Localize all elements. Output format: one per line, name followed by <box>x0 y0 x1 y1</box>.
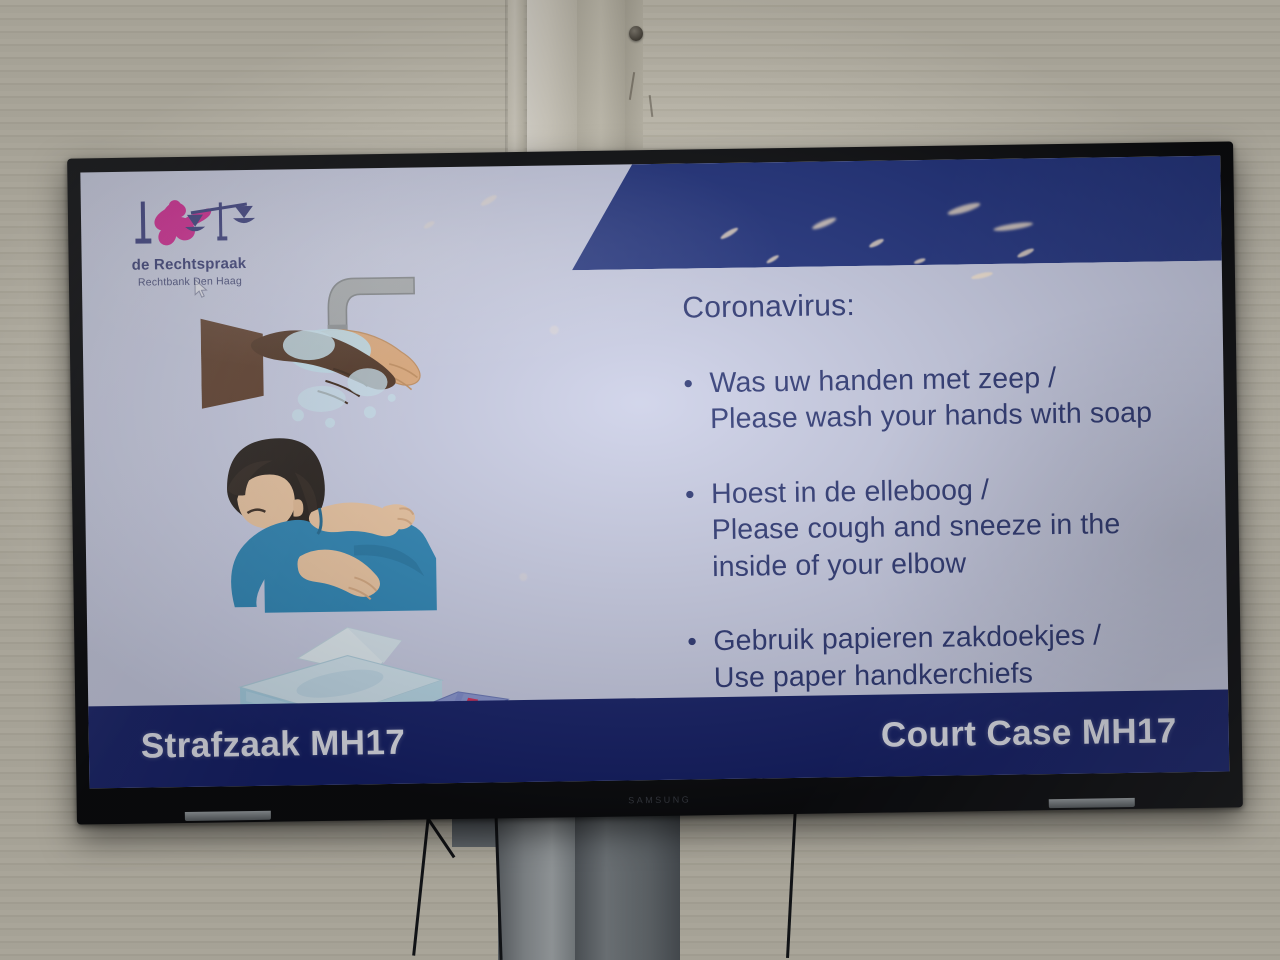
footer-title-english: Court Case MH17 <box>881 711 1177 755</box>
slide-footer-bar: Strafzaak MH17 Court Case MH17 <box>88 690 1229 789</box>
wall-screw <box>629 26 643 41</box>
cable-right <box>786 806 797 958</box>
wall-post-middle <box>527 0 577 170</box>
slide-heading: Coronavirus: <box>682 284 1186 325</box>
scales-of-justice-icon <box>135 192 266 256</box>
bullet-1-dutch: Was uw handen met zeep / <box>709 362 1056 399</box>
bullet-text-1: Was uw handen met zeep /Please wash your… <box>709 359 1152 438</box>
bullet-text-2: Hoest in de elleboog /Please cough and s… <box>711 470 1121 585</box>
bullet-item: • Gebruik papieren zakdoekjes /Use paper… <box>687 616 1192 696</box>
bullet-marker: • <box>685 476 713 586</box>
bullet-item: • Was uw handen met zeep /Please wash yo… <box>683 358 1188 438</box>
footer-title-dutch: Strafzaak MH17 <box>141 723 406 767</box>
cough-into-elbow-illustration <box>202 433 535 618</box>
cable-left <box>412 806 431 955</box>
bullet-2-dutch: Hoest in de elleboog / <box>711 474 989 510</box>
slide-top-banner <box>570 156 1221 271</box>
bullet-1-english: Please wash your hands with soap <box>710 397 1152 436</box>
stand-column-back <box>575 800 680 960</box>
glare-speck <box>480 193 499 207</box>
bullet-marker: • <box>683 365 710 438</box>
bullet-2-english: Please cough and sneeze in the inside of… <box>711 509 1120 584</box>
bullet-marker: • <box>687 623 714 696</box>
glare-speck <box>971 271 994 281</box>
slide-text-column: Coronavirus: • Was uw handen met zeep /P… <box>682 284 1193 735</box>
wall-post-left <box>505 0 527 175</box>
wall-scratch <box>649 95 654 117</box>
room-scene: de Rechtspraak Rechtbank Den Haag <box>0 0 1280 960</box>
wall-post-far <box>625 0 643 166</box>
glare-speck <box>550 326 559 335</box>
tv-foot-left <box>185 811 271 821</box>
display-screen[interactable]: de Rechtspraak Rechtbank Den Haag <box>80 156 1229 789</box>
wall-post-right <box>577 0 625 168</box>
handwashing-illustration <box>199 244 532 434</box>
illustration-column <box>199 244 536 752</box>
banner-sheen <box>570 156 1221 271</box>
bullet-item: • Hoest in de elleboog /Please cough and… <box>685 469 1191 586</box>
tv-foot-right <box>1049 798 1135 808</box>
bullet-3-english: Use paper handkerchiefs <box>714 657 1034 694</box>
bullet-3-dutch: Gebruik papieren zakdoekjes / <box>713 620 1101 658</box>
wall-display[interactable]: de Rechtspraak Rechtbank Den Haag <box>67 141 1243 824</box>
glare-speck <box>423 220 436 230</box>
bullet-text-3: Gebruik papieren zakdoekjes /Use paper h… <box>713 618 1102 697</box>
